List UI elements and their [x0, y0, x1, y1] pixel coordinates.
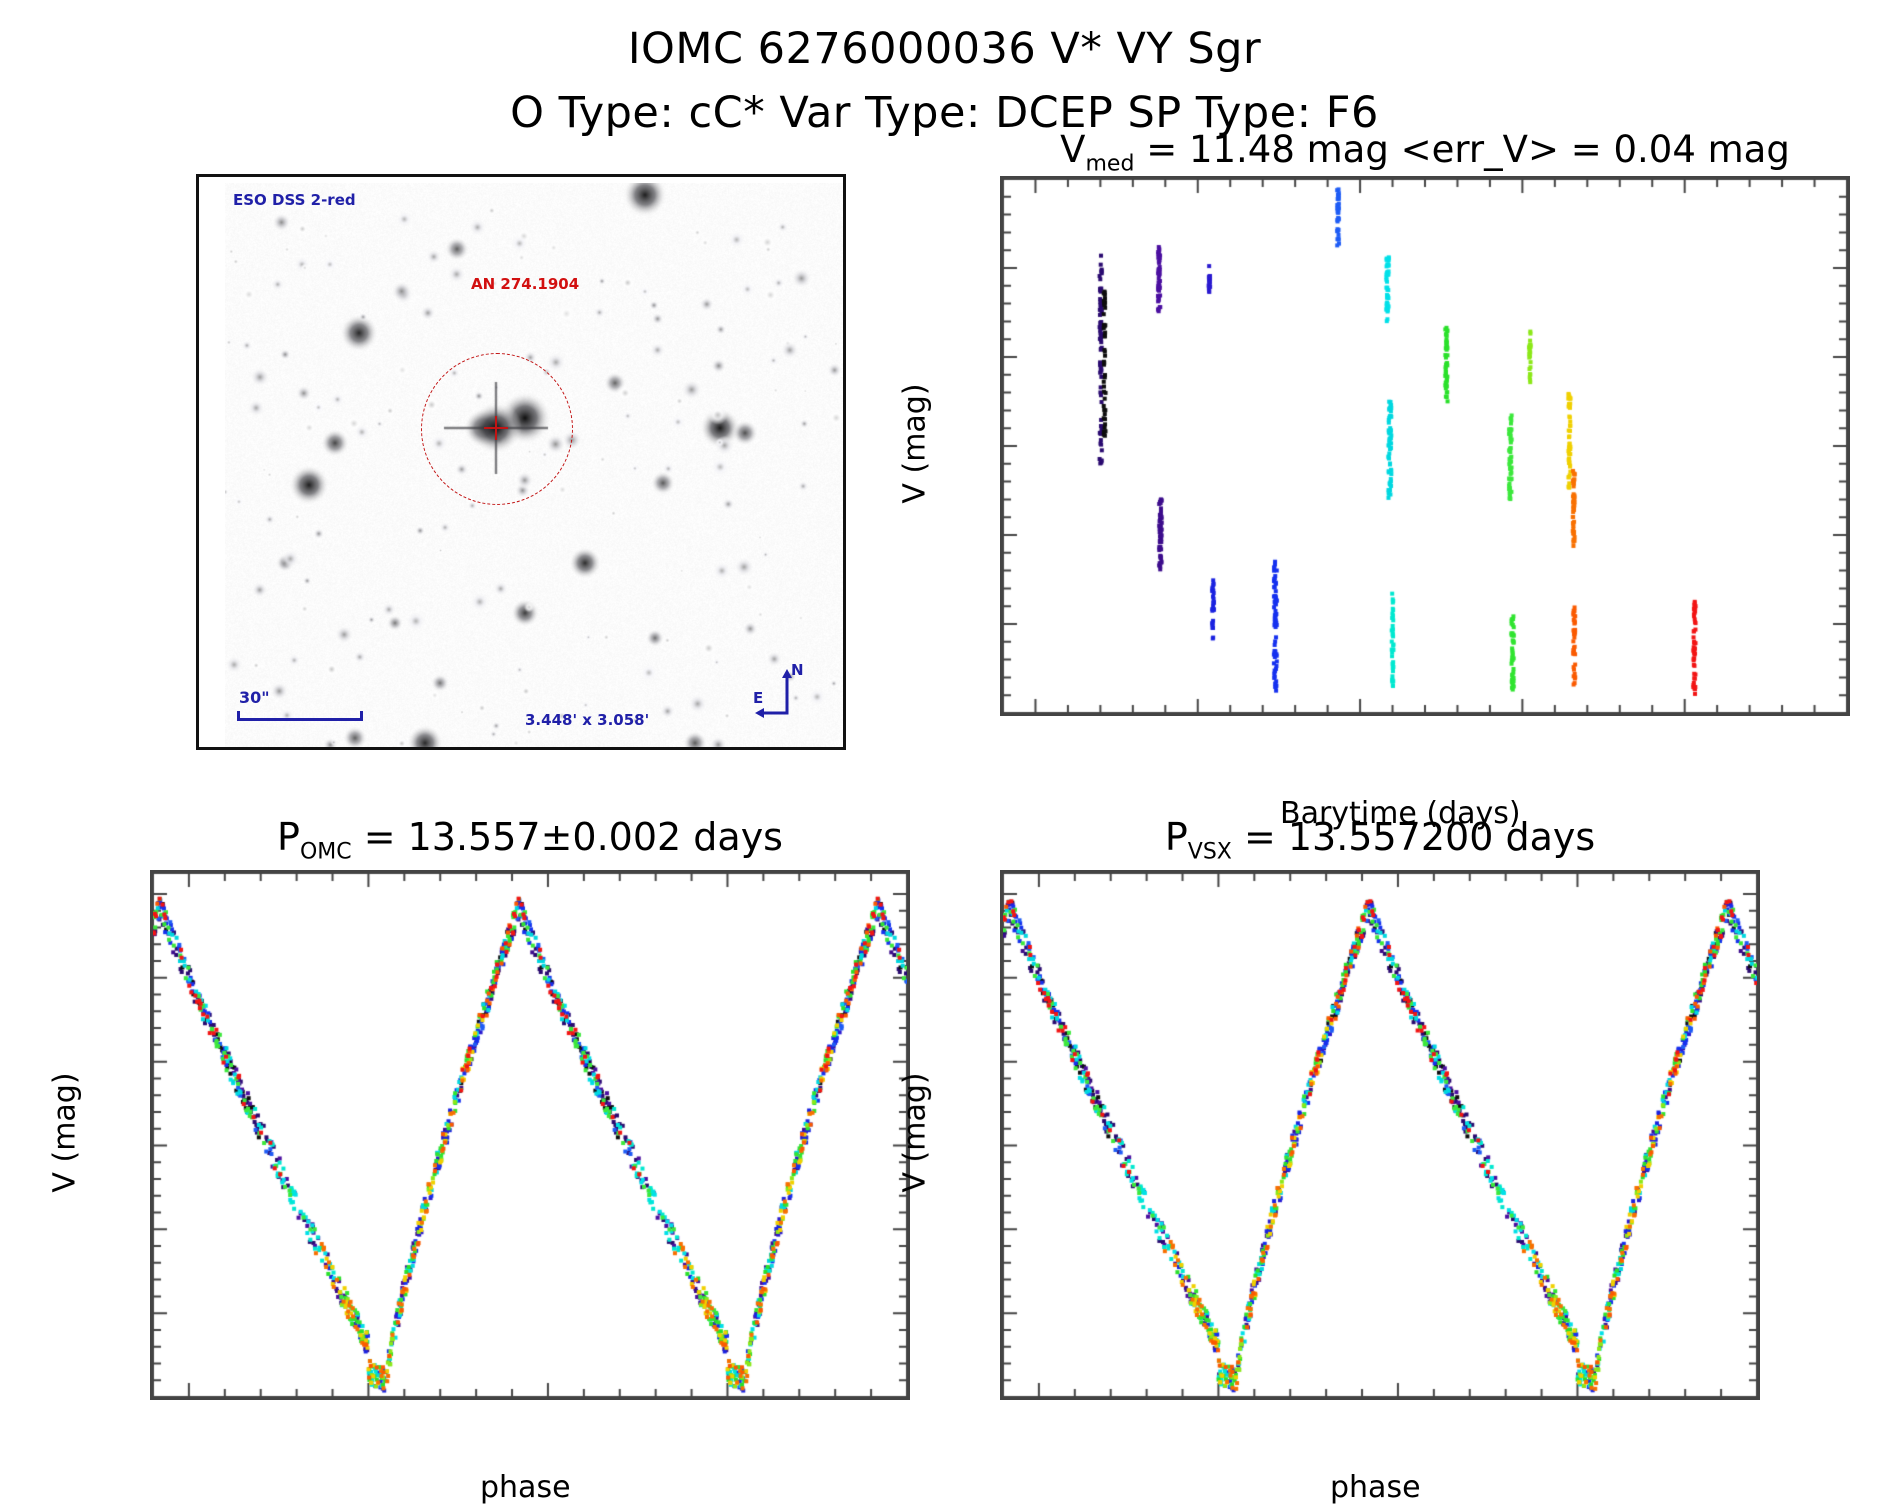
svg-text:E: E — [753, 689, 763, 707]
lightcurve-title-sub: med — [1085, 151, 1134, 176]
lightcurve-plot: Vmed = 11.48 mag <err_V> = 0.04 mag V (m… — [1000, 176, 1850, 716]
phase-vsx-title-rest: = 13.557200 days — [1244, 815, 1595, 859]
lightcurve-ylabel: V (mag) — [898, 383, 933, 503]
phase-omc-xlabel: phase — [480, 1470, 571, 1505]
phase-omc-ylabel: V (mag) — [48, 1072, 83, 1192]
finding-chart-sky-image: ESO DSS 2-red AN 274.1904 30" 3.448' x 3… — [225, 183, 843, 747]
phase-vsx-title-sub: VSX — [1188, 840, 1232, 865]
phase-omc-title-sub: OMC — [300, 840, 352, 865]
finding-chart-object-label: AN 274.1904 — [471, 275, 579, 293]
page-title: IOMC 6276000036 V* VY Sgr — [0, 24, 1889, 74]
phase-vsx-title-p: P — [1165, 815, 1188, 859]
phase-omc-title: POMC = 13.557±0.002 days — [150, 815, 910, 865]
svg-text:N: N — [791, 661, 804, 679]
finding-chart-survey-label: ESO DSS 2-red — [233, 191, 356, 209]
phase-plot-omc: POMC = 13.557±0.002 days V (mag) phase — [150, 870, 910, 1400]
finding-chart-fov-label: 3.448' x 3.058' — [525, 711, 649, 729]
compass-north-east-icon: N E — [751, 659, 813, 721]
phase-vsx-xlabel: phase — [1330, 1470, 1421, 1505]
lightcurve-title: Vmed = 11.48 mag <err_V> = 0.04 mag — [1000, 128, 1850, 176]
finding-chart-scale-bar — [237, 711, 363, 721]
lightcurve-title-rest: = 11.48 mag <err_V> = 0.04 mag — [1146, 128, 1790, 171]
finding-chart-scale-label: 30" — [239, 688, 270, 707]
phase-omc-title-p: P — [277, 815, 300, 859]
phase-omc-title-rest: = 13.557±0.002 days — [364, 815, 783, 859]
phase-vsx-ylabel: V (mag) — [898, 1072, 933, 1192]
finding-chart: ESO DSS 2-red AN 274.1904 30" 3.448' x 3… — [196, 174, 846, 750]
target-crosshair-icon — [484, 416, 508, 440]
phase-vsx-title: PVSX = 13.557200 days — [1000, 815, 1760, 865]
lightcurve-title-v: V — [1060, 128, 1085, 171]
phase-plot-vsx: PVSX = 13.557200 days V (mag) phase — [1000, 870, 1760, 1400]
